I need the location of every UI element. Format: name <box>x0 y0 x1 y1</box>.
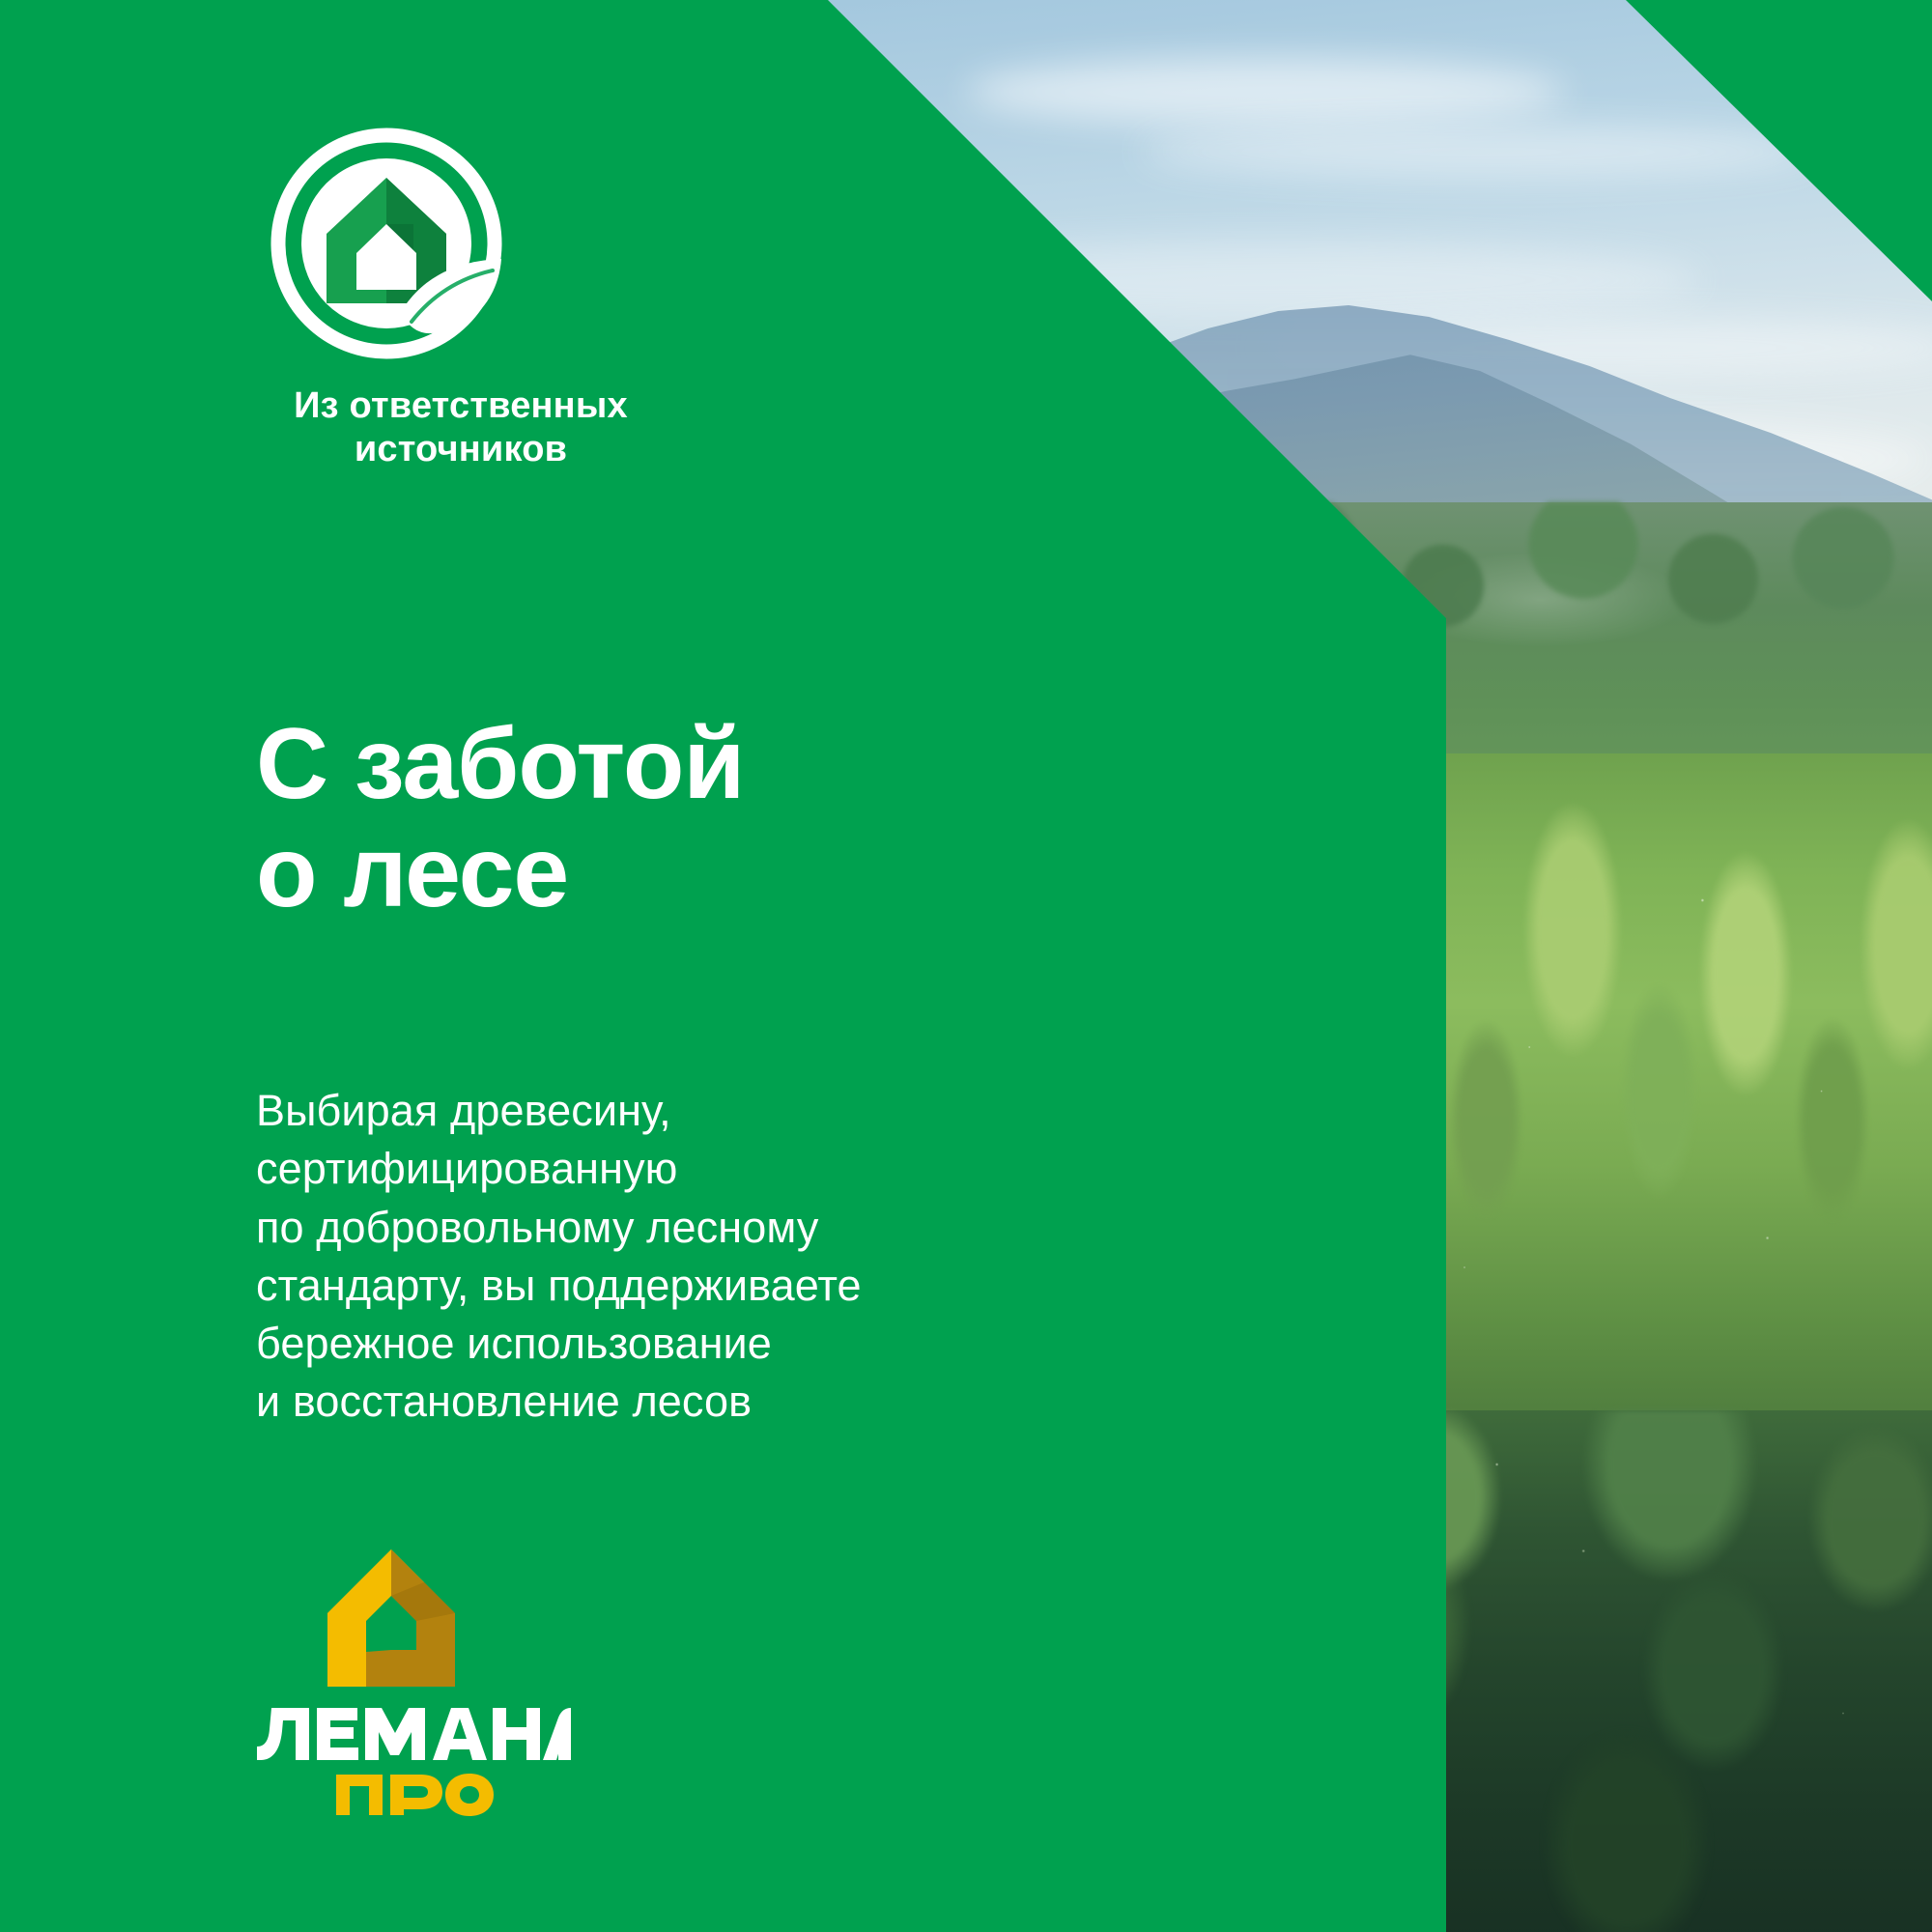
promo-poster: Из ответственных источников С заботой о … <box>0 0 1932 1932</box>
brand-wordmark <box>253 1704 572 1764</box>
brand-suffix-pro <box>332 1772 495 1818</box>
body-paragraph: Выбирая древесину, сертифицированную по … <box>256 1082 862 1432</box>
lemana-house-icon <box>324 1546 459 1690</box>
page-title: С заботой о лесе <box>256 710 744 927</box>
certification-caption: Из ответственных источников <box>253 384 668 471</box>
poster-content: Из ответственных источников С заботой о … <box>0 0 1446 1932</box>
certification-badge: Из ответственных источников <box>253 124 688 471</box>
house-leaf-circle-emblem-icon <box>267 124 506 363</box>
brand-logo <box>253 1546 659 1818</box>
